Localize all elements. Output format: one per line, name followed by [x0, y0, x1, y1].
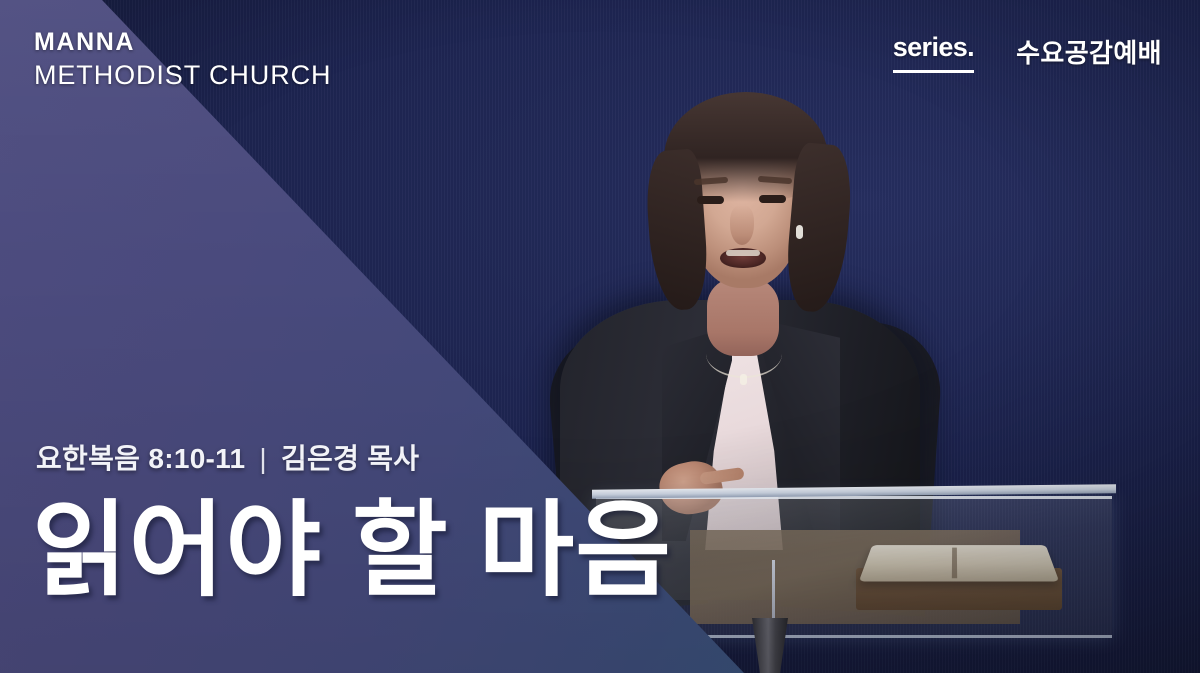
church-logo-line1: MANNA — [34, 30, 331, 56]
sermon-title: 읽어야 할 마음 — [32, 498, 672, 604]
series-label: series. — [893, 32, 974, 73]
series-name: 수요공감예배 — [1016, 32, 1162, 70]
speaker-name: 김은경 목사 — [281, 443, 419, 474]
metadata-separator: | — [259, 443, 267, 474]
broadcast-sermon-title-card: MANNA METHODIST CHURCH series. 수요공감예배 요한… — [0, 0, 1200, 673]
church-logo-line2: METHODIST CHURCH — [34, 62, 331, 90]
scripture-reference: 요한복음 8:10-11 — [36, 443, 245, 474]
church-logo: MANNA METHODIST CHURCH — [34, 30, 331, 89]
sermon-metadata: 요한복음 8:10-11|김은경 목사 — [36, 437, 419, 477]
series-badge: series. 수요공감예배 — [893, 32, 1162, 73]
